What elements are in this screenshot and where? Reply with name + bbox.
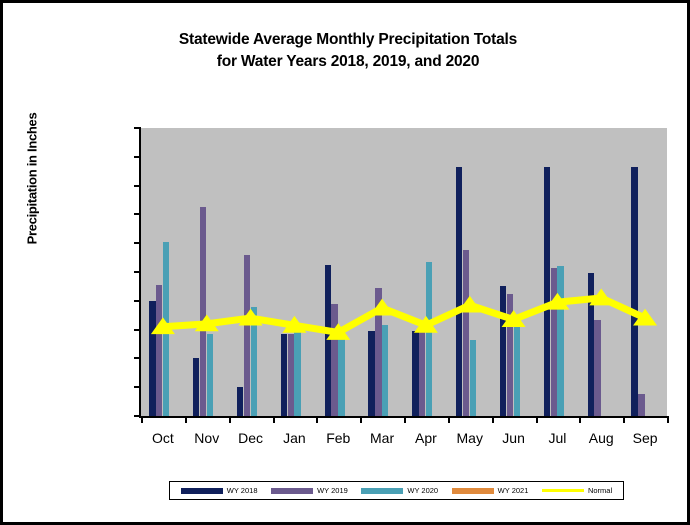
legend-label: WY 2020 — [407, 486, 438, 495]
legend-swatch — [452, 488, 494, 494]
bar — [156, 285, 162, 416]
x-axis-tick-label: Sep — [615, 430, 675, 446]
y-axis-tick-mark — [134, 357, 141, 359]
bar — [375, 288, 381, 416]
plot-area: 10.009.008.007.006.005.004.003.002.001.0… — [139, 128, 667, 418]
legend-swatch — [361, 488, 403, 494]
legend-label: WY 2019 — [317, 486, 348, 495]
y-axis-label: Precipitation in Inches — [25, 64, 40, 294]
bar — [338, 334, 344, 416]
bar — [331, 304, 337, 416]
chart-title-line-2: for Water Years 2018, 2019, and 2020 — [3, 51, 690, 73]
bar — [193, 358, 199, 416]
x-axis-tick-mark — [492, 416, 494, 423]
bar — [426, 262, 432, 416]
legend-label: Normal — [588, 486, 612, 495]
y-axis-tick-mark — [134, 185, 141, 187]
x-axis-tick-mark — [623, 416, 625, 423]
x-axis-tick-mark — [360, 416, 362, 423]
y-axis-tick-mark — [134, 127, 141, 129]
bar — [551, 268, 557, 416]
x-axis-tick-mark — [273, 416, 275, 423]
bar — [514, 318, 520, 416]
x-axis-tick-mark — [141, 416, 143, 423]
chart-title-line-1: Statewide Average Monthly Precipitation … — [3, 29, 690, 51]
bar — [463, 250, 469, 416]
normal-marker — [370, 299, 394, 316]
chart-frame: Statewide Average Monthly Precipitation … — [0, 0, 690, 525]
chart-legend: WY 2018WY 2019WY 2020WY 2021Normal — [169, 481, 624, 500]
bar — [544, 167, 550, 416]
legend-item[interactable]: Normal — [542, 486, 612, 495]
bar — [281, 334, 287, 416]
bar — [638, 394, 644, 416]
bar — [244, 255, 250, 416]
y-axis-tick-mark — [134, 213, 141, 215]
bar — [325, 265, 331, 416]
y-axis-tick-mark — [134, 329, 141, 331]
legend-label: WY 2018 — [227, 486, 258, 495]
bar — [200, 207, 206, 416]
legend-item[interactable]: WY 2020 — [361, 486, 438, 495]
legend-item[interactable]: WY 2018 — [181, 486, 258, 495]
chart-title: Statewide Average Monthly Precipitation … — [3, 29, 690, 73]
bar — [456, 167, 462, 416]
normal-marker — [282, 316, 306, 333]
y-axis-tick-mark — [134, 415, 141, 417]
bar — [149, 301, 155, 416]
x-axis-tick-mark — [667, 416, 669, 423]
x-axis-tick-mark — [536, 416, 538, 423]
legend-item[interactable]: WY 2019 — [271, 486, 348, 495]
bar — [500, 286, 506, 416]
bar — [412, 331, 418, 416]
y-axis-tick-mark — [134, 386, 141, 388]
x-axis-tick-mark — [579, 416, 581, 423]
x-axis-tick-mark — [229, 416, 231, 423]
legend-label: WY 2021 — [498, 486, 529, 495]
bar — [470, 340, 476, 416]
bar — [588, 273, 594, 416]
bar — [294, 332, 300, 416]
bar — [507, 294, 513, 416]
bar — [419, 331, 425, 416]
y-axis-tick-mark — [134, 300, 141, 302]
x-axis-tick-mark — [316, 416, 318, 423]
bar — [594, 320, 600, 416]
bar — [382, 325, 388, 416]
bar — [557, 266, 563, 416]
bar — [251, 307, 257, 416]
legend-swatch — [181, 488, 223, 494]
bar — [631, 167, 637, 416]
y-axis-tick-mark — [134, 242, 141, 244]
bar — [288, 334, 294, 416]
x-axis-tick-mark — [404, 416, 406, 423]
legend-item[interactable]: WY 2021 — [452, 486, 529, 495]
legend-swatch — [271, 488, 313, 494]
bar — [163, 242, 169, 416]
bar — [237, 387, 243, 416]
bar — [368, 331, 374, 416]
normal-marker — [195, 314, 219, 331]
normal-line-path — [163, 298, 645, 333]
y-axis-tick-mark — [134, 271, 141, 273]
legend-swatch — [542, 489, 584, 492]
y-axis-tick-mark — [134, 156, 141, 158]
x-axis-tick-mark — [448, 416, 450, 423]
bar — [207, 334, 213, 416]
x-axis-tick-mark — [185, 416, 187, 423]
